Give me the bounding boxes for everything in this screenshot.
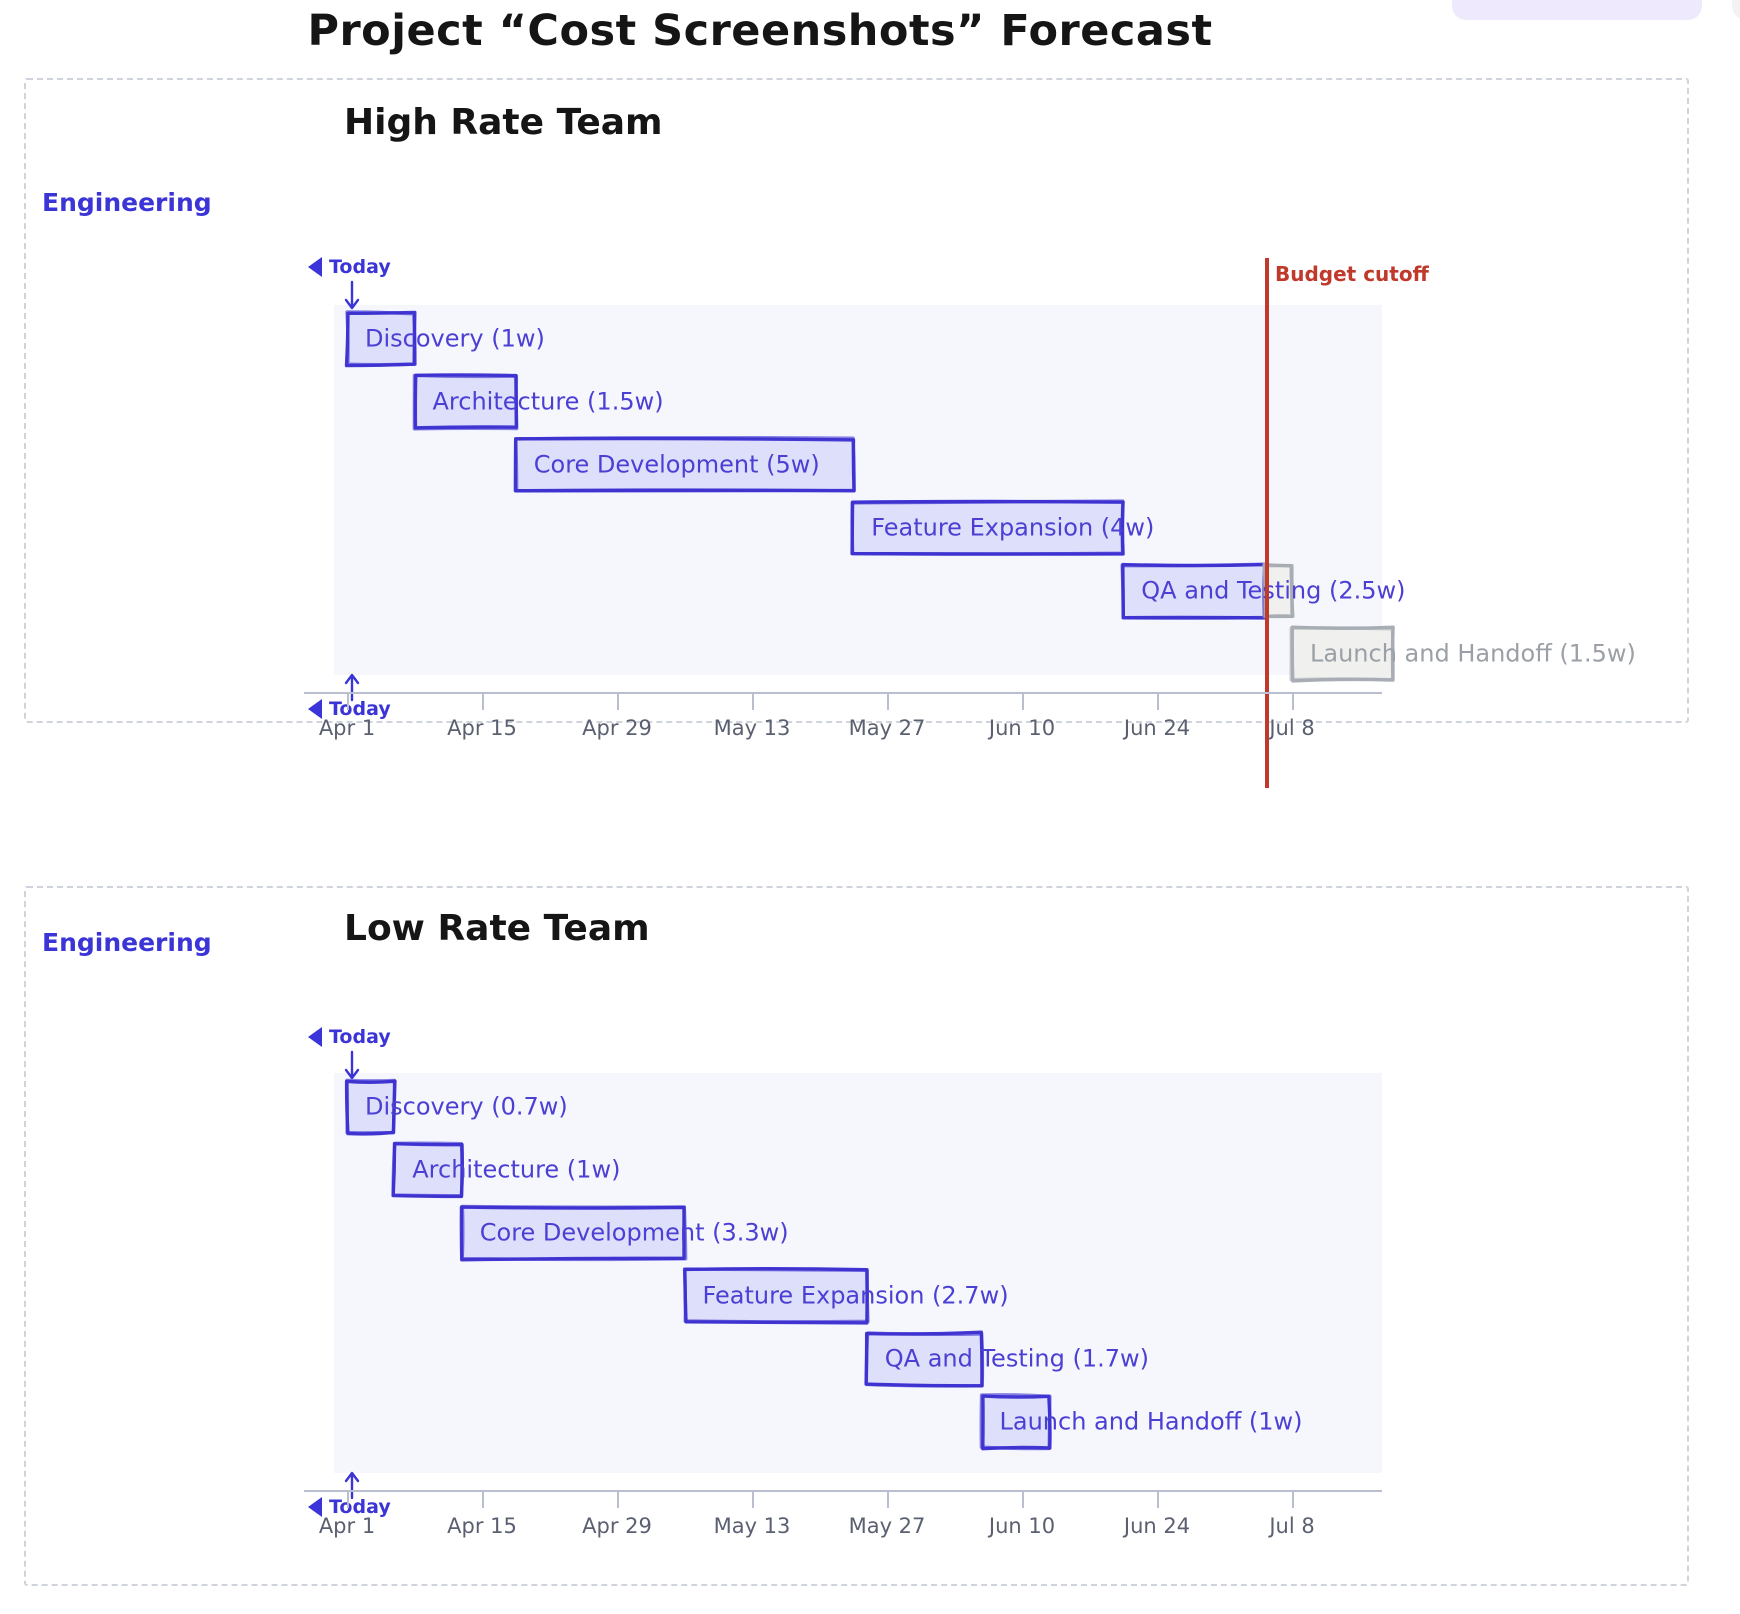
today-triangle-icon [308,257,322,277]
x-axis-tick [617,1492,619,1508]
gantt-bar[interactable]: Launch and Handoff (1.5w) [1292,628,1393,680]
gantt-bar[interactable]: Core Development (3.3w) [462,1207,685,1259]
legend-chip-right[interactable] [1732,0,1740,20]
x-axis-tick [752,1492,754,1508]
x-axis-tick-label: Jul 8 [1269,716,1314,740]
gantt-bar-segment-over-budget [1265,565,1292,617]
x-axis-tick [1292,694,1294,710]
x-axis-tick-label: Jun 10 [989,1514,1055,1538]
x-axis-tick-label: Jul 8 [1269,1514,1314,1538]
today-marker-top: Today [308,1026,391,1048]
gantt-bar[interactable]: Launch and Handoff (1w) [982,1396,1050,1448]
x-axis-tick-label: Apr 15 [447,1514,517,1538]
page-title: Project “Cost Screenshots” Forecast [0,6,1520,56]
x-axis-tick-label: Jun 24 [1124,1514,1190,1538]
gantt-bar[interactable]: Discovery (0.7w) [347,1081,394,1133]
budget-cutoff-label: Budget cutoff [1275,262,1429,286]
gantt-bar-segment-on-budget [1123,565,1265,617]
x-axis-tick-label: May 13 [714,1514,791,1538]
x-axis-tick-label: Apr 1 [319,716,375,740]
gantt-bar[interactable]: Core Development (5w) [516,439,854,491]
x-axis-tick [1157,1492,1159,1508]
today-triangle-icon [308,1027,322,1047]
today-label-top: Today [329,1026,391,1048]
today-marker-top: Today [308,256,391,278]
x-axis-tick [887,1492,889,1508]
panel-low-rate-team: Low Rate Team Engineering TodayTodayDisc… [24,886,1689,1586]
x-axis-line [304,1490,1382,1492]
x-axis-tick-label: Jun 10 [989,716,1055,740]
panel-high-rate-team: High Rate Team Engineering TodayTodayDis… [24,78,1689,723]
gantt-bar[interactable]: Architecture (1w) [394,1144,462,1196]
x-axis-tick [887,694,889,710]
x-axis-tick-label: Apr 29 [582,716,652,740]
gantt-plot-high[interactable]: TodayTodayDiscovery (1w)Architecture (1.… [26,80,1691,780]
x-axis-tick [1022,694,1024,710]
today-label-top: Today [329,256,391,278]
x-axis-tick-label: Apr 29 [582,1514,652,1538]
gantt-bar[interactable]: QA and Testing (1.7w) [867,1333,982,1385]
x-axis-tick [1157,694,1159,710]
x-axis-tick [482,1492,484,1508]
x-axis-tick [347,1492,349,1508]
budget-cutoff-line [1265,258,1269,788]
x-axis-tick [1292,1492,1294,1508]
gantt-bar[interactable]: Feature Expansion (4w) [853,502,1123,554]
gantt-plot-low[interactable]: TodayTodayDiscovery (0.7w)Architecture (… [26,888,1691,1588]
gantt-bar[interactable]: Architecture (1.5w) [415,376,516,428]
x-axis-tick-label: May 13 [714,716,791,740]
x-axis-tick-label: Apr 1 [319,1514,375,1538]
x-axis-tick-label: May 27 [849,716,926,740]
gantt-bar[interactable]: Discovery (1w) [347,313,415,365]
x-axis-line [304,692,1382,694]
x-axis-tick [347,694,349,710]
gantt-bar[interactable]: Feature Expansion (2.7w) [685,1270,867,1322]
x-axis-tick-label: Apr 15 [447,716,517,740]
x-axis-tick [482,694,484,710]
x-axis-tick [752,694,754,710]
x-axis-tick [617,694,619,710]
x-axis-tick-label: May 27 [849,1514,926,1538]
x-axis-tick [1022,1492,1024,1508]
x-axis-tick-label: Jun 24 [1124,716,1190,740]
